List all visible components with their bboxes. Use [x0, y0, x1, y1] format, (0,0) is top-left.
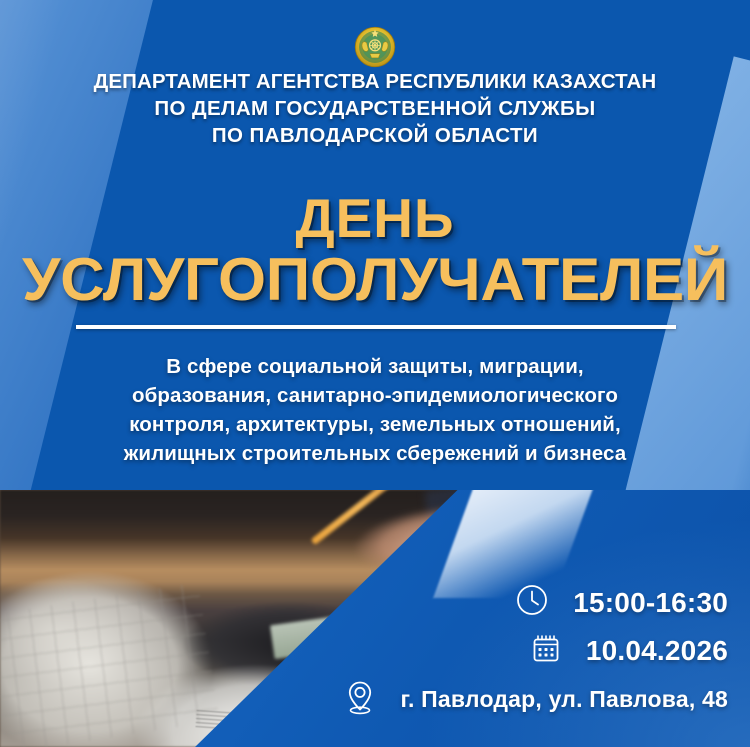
event-description: В сфере социальной защиты, миграции, обр…	[0, 352, 750, 468]
clock-icon	[515, 583, 549, 622]
event-title-line-1: ДЕНЬ	[0, 192, 750, 246]
event-time-row: 15:00-16:30	[343, 583, 728, 622]
title-divider	[76, 325, 676, 329]
map-pin-icon	[343, 679, 377, 720]
header-panel: ДЕПАРТАМЕНТ АГЕНТСТВА РЕСПУБЛИКИ КАЗАХСТ…	[0, 0, 750, 490]
event-description-line-4: жилищных строительных сбережений и бизне…	[24, 439, 726, 468]
event-location-value: г. Павлодар, ул. Павлова, 48	[401, 686, 728, 713]
event-title: ДЕНЬ УСЛУГОПОЛУЧАТЕЛЕЙ	[0, 192, 750, 310]
event-details: 15:00-16:30 10.04.	[343, 583, 728, 720]
kazakhstan-coat-of-arms-icon	[354, 26, 396, 68]
event-date-row: 10.04.2026	[343, 632, 728, 669]
calendar-icon	[530, 632, 562, 669]
event-location-row: г. Павлодар, ул. Павлова, 48	[343, 679, 728, 720]
organization-title-line-3: ПО ПАВЛОДАРСКОЙ ОБЛАСТИ	[36, 122, 714, 149]
organization-title-line-1: ДЕПАРТАМЕНТ АГЕНТСТВА РЕСПУБЛИКИ КАЗАХСТ…	[36, 68, 714, 95]
poster-root: ДЕПАРТАМЕНТ АГЕНТСТВА РЕСПУБЛИКИ КАЗАХСТ…	[0, 0, 750, 747]
event-description-line-3: контроля, архитектуры, земельных отношен…	[24, 410, 726, 439]
event-date-value: 10.04.2026	[586, 635, 728, 667]
event-description-line-2: образования, санитарно-эпидемиологическо…	[24, 381, 726, 410]
event-time-value: 15:00-16:30	[573, 587, 728, 619]
organization-title-line-2: ПО ДЕЛАМ ГОСУДАРСТВЕННОЙ СЛУЖБЫ	[36, 95, 714, 122]
event-description-line-1: В сфере социальной защиты, миграции,	[24, 352, 726, 381]
organization-title: ДЕПАРТАМЕНТ АГЕНТСТВА РЕСПУБЛИКИ КАЗАХСТ…	[0, 68, 750, 149]
event-title-line-2: УСЛУГОПОЛУЧАТЕЛЕЙ	[0, 251, 750, 310]
